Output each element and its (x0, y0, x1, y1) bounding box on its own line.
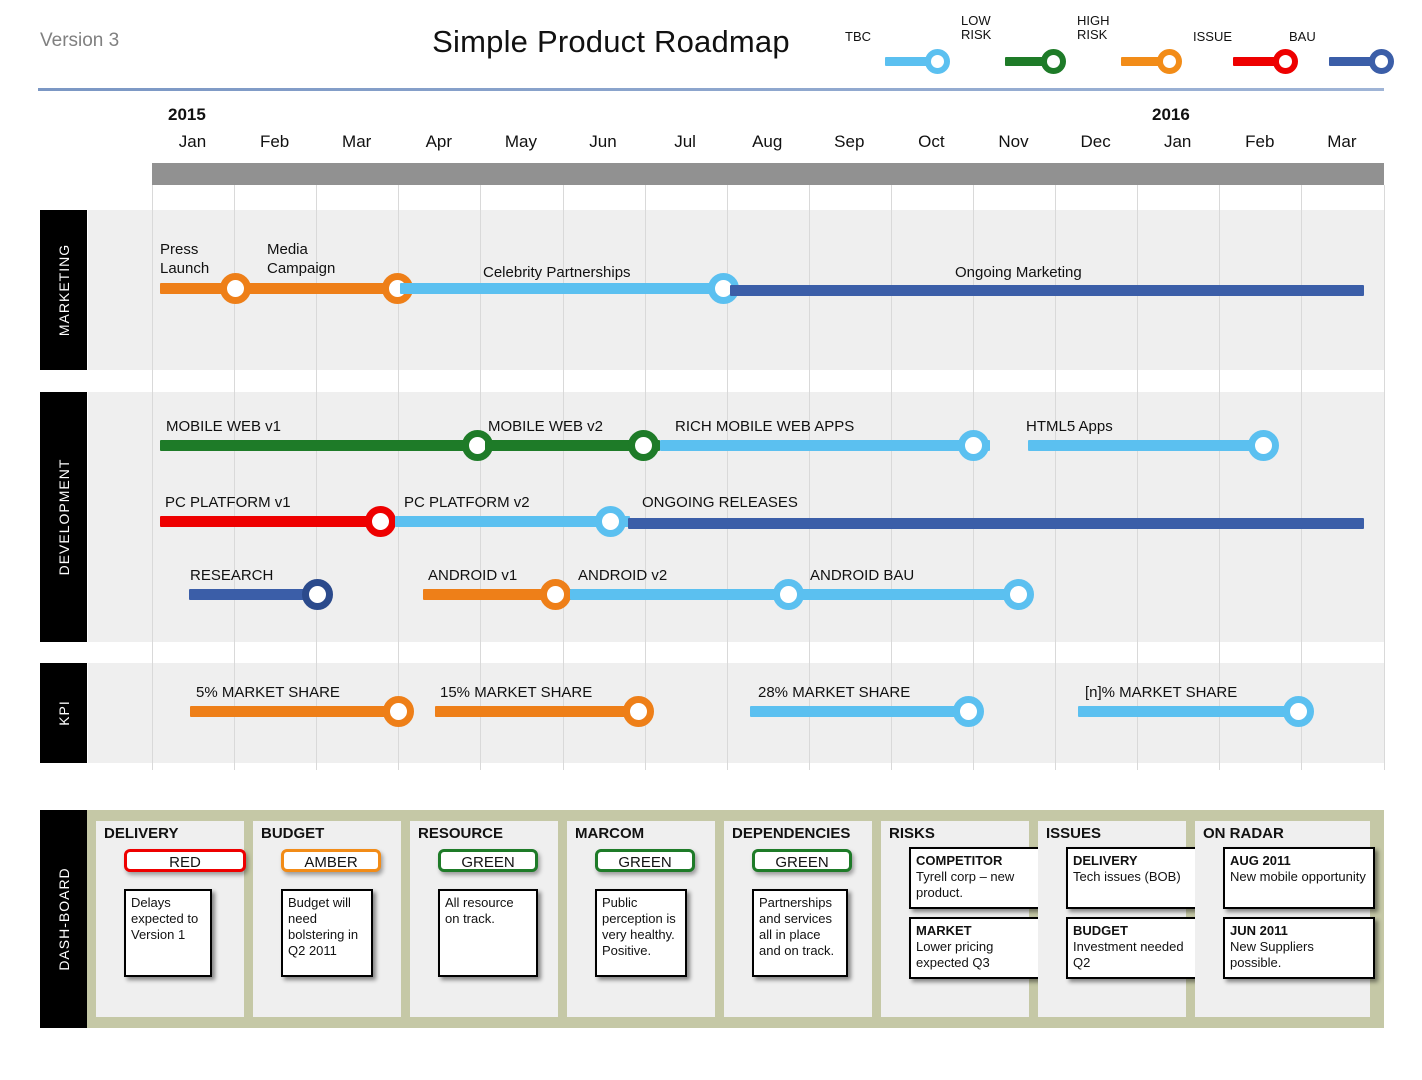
dashboard-note[interactable]: Partnerships and services all in place a… (752, 889, 848, 977)
dashboard-panel-title: MARCOM (575, 825, 644, 842)
bar-label: 15% MARKET SHARE (440, 683, 592, 702)
month-label: Jan (1137, 132, 1218, 152)
dashboard-note[interactable]: BUDGETInvestment needed Q2 (1066, 917, 1198, 979)
legend-label: LOW RISK (961, 14, 991, 42)
dashboard-note[interactable]: MARKETLower pricing expected Q3 (909, 917, 1041, 979)
status-badge[interactable]: GREEN (752, 849, 852, 872)
roadmap-bar[interactable] (400, 283, 730, 294)
bar-label: RESEARCH (190, 566, 273, 585)
gridline (645, 185, 646, 770)
dashboard-panel: RESOURCEGREENAll resource on track. (410, 821, 558, 1017)
status-badge[interactable]: RED (124, 849, 246, 872)
roadmap-bar[interactable] (628, 518, 1364, 529)
month-label: Aug (727, 132, 808, 152)
dashboard-note-body: Budget will need bolstering in Q2 2011 (288, 895, 366, 959)
dashboard-note-body: All resource on track. (445, 895, 531, 927)
dashboard-note-body: Tech issues (BOB) (1073, 869, 1191, 885)
year-label: 2016 (1152, 105, 1190, 125)
milestone-icon[interactable] (1248, 430, 1279, 461)
dashboard-panel-title: DELIVERY (104, 825, 178, 842)
roadmap-bar[interactable] (803, 589, 1033, 600)
legend-label: HIGH RISK (1077, 14, 1110, 42)
legend-label: BAU (1289, 30, 1316, 44)
month-label: May (480, 132, 561, 152)
status-badge[interactable]: GREEN (595, 849, 695, 872)
month-label: Oct (891, 132, 972, 152)
page-header: Version 3 Simple Product Roadmap TBCLOW … (0, 0, 1422, 95)
milestone-icon[interactable] (623, 696, 654, 727)
dashboard-note[interactable]: All resource on track. (438, 889, 538, 977)
bar-label: PC PLATFORM v2 (404, 493, 530, 512)
dashboard-note-body: Lower pricing expected Q3 (916, 939, 1034, 971)
bar-label: Media Campaign (267, 240, 335, 278)
dashboard-note-heading: DELIVERY (1073, 853, 1138, 868)
dashboard-note[interactable]: AUG 2011New mobile opportunity (1223, 847, 1375, 909)
bar-label: 28% MARKET SHARE (758, 683, 910, 702)
legend-milestone-icon (1157, 49, 1182, 74)
month-label: Feb (1219, 132, 1300, 152)
lane-label-text: MARKETING (56, 244, 72, 336)
bar-label: ANDROID v1 (428, 566, 517, 585)
roadmap-bar[interactable] (189, 589, 314, 600)
status-badge[interactable]: AMBER (281, 849, 381, 872)
milestone-icon[interactable] (383, 696, 414, 727)
dashboard-panel: BUDGETAMBERBudget will need bolstering i… (253, 821, 401, 1017)
bar-label: ANDROID BAU (810, 566, 914, 585)
milestone-icon[interactable] (958, 430, 989, 461)
roadmap-bar[interactable] (570, 589, 805, 600)
bar-label: HTML5 Apps (1026, 417, 1113, 436)
gridline (152, 185, 153, 770)
month-label: Nov (973, 132, 1054, 152)
dashboard-note[interactable]: Public perception is very healthy. Posit… (595, 889, 687, 977)
gridline (1301, 185, 1302, 770)
dashboard-note[interactable]: DELIVERYTech issues (BOB) (1066, 847, 1198, 909)
dashboard-panel: DELIVERYREDDelays expected to Version 1 (96, 821, 244, 1017)
legend-milestone-icon (1273, 49, 1298, 74)
header-divider (38, 88, 1384, 91)
lane-label-development: DEVELOPMENT (40, 392, 87, 642)
roadmap-bar[interactable] (1028, 440, 1278, 451)
month-label: Apr (398, 132, 479, 152)
dashboard-note-body: Investment needed Q2 (1073, 939, 1191, 971)
dashboard-note-body: Public perception is very healthy. Posit… (602, 895, 680, 959)
dashboard-note-body: Tyrell corp – new product. (916, 869, 1034, 901)
dashboard-note-heading: JUN 2011 (1230, 923, 1288, 938)
lane-label-text: DEVELOPMENT (56, 459, 72, 576)
bar-label: [n]% MARKET SHARE (1085, 683, 1237, 702)
roadmap-bar[interactable] (660, 440, 990, 451)
roadmap-bar[interactable] (160, 283, 400, 294)
legend-label: ISSUE (1193, 30, 1232, 44)
dashboard-note-body: New Suppliers possible. (1230, 939, 1368, 971)
bar-label: MOBILE WEB v2 (488, 417, 603, 436)
dashboard-panel: ISSUESDELIVERYTech issues (BOB)BUDGETInv… (1038, 821, 1186, 1017)
dashboard-panel-title: ISSUES (1046, 825, 1101, 842)
dashboard-panel-title: BUDGET (261, 825, 324, 842)
dashboard-panel-title: DEPENDENCIES (732, 825, 850, 842)
month-label: Jan (152, 132, 233, 152)
risk-legend: TBCLOW RISKHIGH RISKISSUEBAU (845, 14, 1405, 76)
lane-label-dashboard: DASH-BOARD (40, 810, 87, 1028)
dashboard-note-heading: COMPETITOR (916, 853, 1002, 868)
dashboard-panel-title: ON RADAR (1203, 825, 1284, 842)
month-label: Dec (1055, 132, 1136, 152)
dashboard-note[interactable]: Budget will need bolstering in Q2 2011 (281, 889, 373, 977)
roadmap-bar[interactable] (160, 440, 485, 451)
lane-label-text: KPI (56, 700, 72, 726)
roadmap-bar[interactable] (1078, 706, 1303, 717)
milestone-icon[interactable] (220, 273, 251, 304)
bar-label: ANDROID v2 (578, 566, 667, 585)
roadmap-bar[interactable] (750, 706, 975, 717)
dashboard-section: DASH-BOARD DELIVERYREDDelays expected to… (40, 810, 1384, 1028)
legend-milestone-icon (1041, 49, 1066, 74)
legend-label: TBC (845, 30, 871, 44)
roadmap-chart: MARKETINGDEVELOPMENTKPIPress LaunchMedia… (0, 185, 1422, 770)
milestone-icon[interactable] (595, 506, 626, 537)
dashboard-panel: DEPENDENCIESGREENPartnerships and servic… (724, 821, 872, 1017)
dashboard-panel: RISKSCOMPETITORTyrell corp – new product… (881, 821, 1029, 1017)
bar-label: Ongoing Marketing (955, 263, 1082, 282)
dashboard-panel: ON RADARAUG 2011New mobile opportunityJU… (1195, 821, 1370, 1017)
gridline (1384, 185, 1385, 770)
dashboard-note-heading: AUG 2011 (1230, 853, 1291, 868)
month-label: Mar (1301, 132, 1382, 152)
milestone-icon[interactable] (628, 430, 659, 461)
dashboard-note-body: New mobile opportunity (1230, 869, 1368, 885)
bar-label: Press Launch (160, 240, 209, 278)
lane-label-marketing: MARKETING (40, 210, 87, 370)
dashboard-note[interactable]: JUN 2011New Suppliers possible. (1223, 917, 1375, 979)
dashboard-note-body: Delays expected to Version 1 (131, 895, 205, 943)
dashboard-panels: DELIVERYREDDelays expected to Version 1B… (87, 810, 1384, 1028)
dashboard-note-heading: MARKET (916, 923, 972, 938)
month-label: Feb (234, 132, 315, 152)
milestone-icon[interactable] (302, 579, 333, 610)
milestone-icon[interactable] (773, 579, 804, 610)
roadmap-bar[interactable] (190, 706, 405, 717)
year-label: 2015 (168, 105, 206, 125)
month-label: Mar (316, 132, 397, 152)
month-label: Jun (563, 132, 644, 152)
milestone-icon[interactable] (1003, 579, 1034, 610)
lane-label-kpi: KPI (40, 663, 87, 763)
month-label: Jul (645, 132, 726, 152)
bar-label: Celebrity Partnerships (483, 263, 631, 282)
dashboard-note[interactable]: COMPETITORTyrell corp – new product. (909, 847, 1041, 909)
milestone-icon[interactable] (953, 696, 984, 727)
bar-label: ONGOING RELEASES (642, 493, 798, 512)
bar-label: RICH MOBILE WEB APPS (675, 417, 854, 436)
dashboard-panel-title: RESOURCE (418, 825, 503, 842)
bar-label: PC PLATFORM v1 (165, 493, 291, 512)
legend-milestone-icon (1369, 49, 1394, 74)
lane-label-dashboard-text: DASH-BOARD (56, 867, 72, 970)
roadmap-bar[interactable] (160, 516, 395, 527)
roadmap-bar[interactable] (730, 285, 1364, 296)
dashboard-note-body: Partnerships and services all in place a… (759, 895, 841, 959)
month-label: Sep (809, 132, 890, 152)
timeline-header: 20152016JanFebMarAprMayJunJulAugSepOctNo… (0, 105, 1422, 163)
milestone-icon[interactable] (540, 579, 571, 610)
milestone-icon[interactable] (365, 506, 396, 537)
roadmap-bar[interactable] (435, 706, 645, 717)
dashboard-panel: MARCOMGREENPublic perception is very hea… (567, 821, 715, 1017)
dashboard-panel-title: RISKS (889, 825, 935, 842)
milestone-icon[interactable] (1283, 696, 1314, 727)
dashboard-note[interactable]: Delays expected to Version 1 (124, 889, 212, 977)
status-badge[interactable]: GREEN (438, 849, 538, 872)
dashboard-note-heading: BUDGET (1073, 923, 1128, 938)
legend-milestone-icon (925, 49, 950, 74)
bar-label: MOBILE WEB v1 (166, 417, 281, 436)
timeline-gray-band (152, 163, 1384, 185)
bar-label: 5% MARKET SHARE (196, 683, 340, 702)
